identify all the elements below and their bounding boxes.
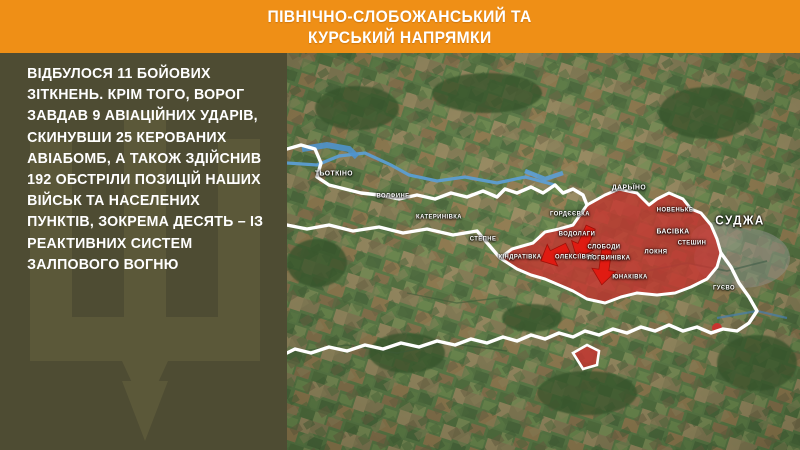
infographic-root: ПІВНІЧНО-СЛОБОЖАНСЬКИЙ ТА КУРСЬКИЙ НАПРЯ… bbox=[0, 0, 800, 450]
map-graphics bbox=[287, 53, 800, 450]
summary-panel: ВІДБУЛОСЯ 11 БОЙОВИХ ЗІТКНЕНЬ. КРІМ ТОГО… bbox=[0, 53, 287, 450]
satellite-map[interactable]: ТЬОТКІНО ВОЛФИНЕ КАТЕРИНІВКА СТЕПНЕ КІНД… bbox=[287, 53, 800, 450]
header-title-line-2: КУРСЬКИЙ НАПРЯМКИ bbox=[308, 27, 492, 48]
summary-text: ВІДБУЛОСЯ 11 БОЙОВИХ ЗІТКНЕНЬ. КРІМ ТОГО… bbox=[0, 53, 278, 276]
header-title-line-1: ПІВНІЧНО-СЛОБОЖАНСЬКИЙ ТА bbox=[268, 6, 532, 27]
header-banner: ПІВНІЧНО-СЛОБОЖАНСЬКИЙ ТА КУРСЬКИЙ НАПРЯ… bbox=[0, 0, 800, 53]
